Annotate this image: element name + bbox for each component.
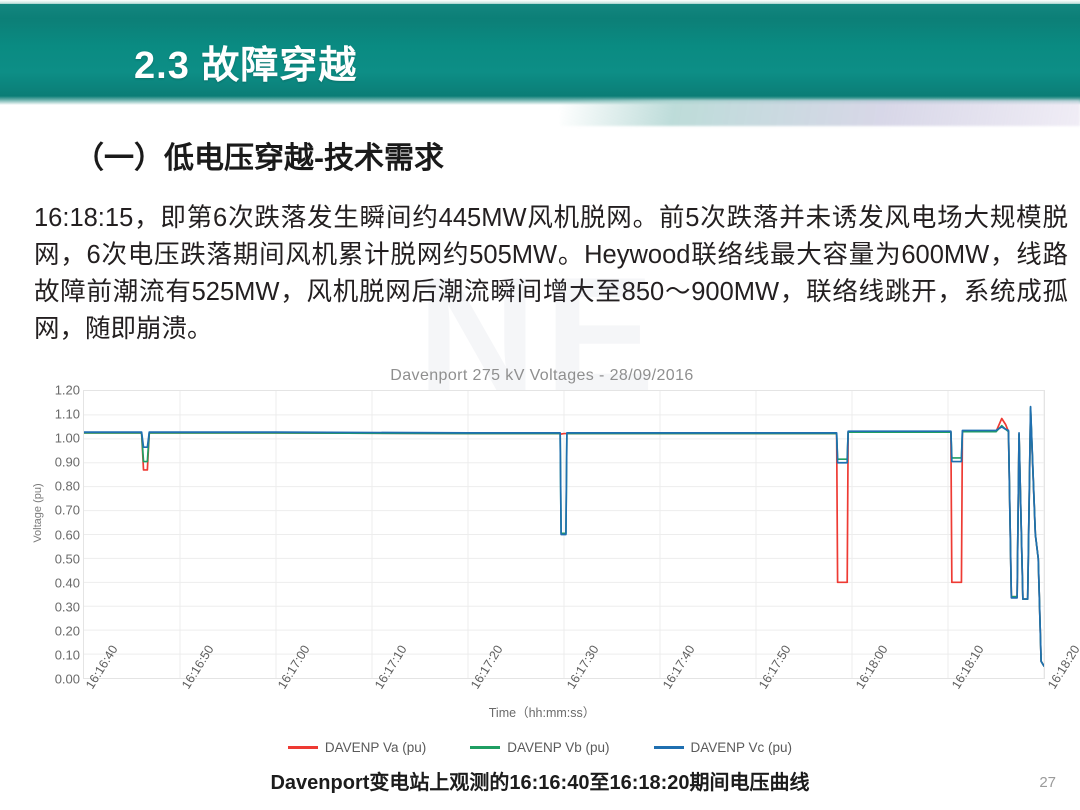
section-heading: （一）低电压穿越-技术需求 [74,133,444,177]
legend-item[interactable]: DAVENP Vc (pu) [654,740,793,755]
legend-color-swatch [654,746,684,749]
y-axis-title: Voltage (pu) [32,478,44,548]
page-number: 27 [1039,774,1056,791]
figure-caption: Davenport变电站上观测的16:16:40至16:18:20期间电压曲线 [0,766,1080,795]
plot-area [83,390,1045,679]
legend-color-swatch [288,746,318,749]
y-axis-tick: 1.10 [36,407,80,422]
y-axis-tick: 0.10 [36,647,80,662]
legend-color-swatch [470,746,500,749]
slide-title: 2.3 故障穿越 [134,34,357,89]
legend-label: DAVENP Vb (pu) [507,740,609,755]
header-sheen-decoration [560,100,1080,126]
legend-label: DAVENP Vc (pu) [691,740,793,755]
y-axis-tick: 1.00 [36,431,80,446]
voltage-chart: Davenport 275 kV Voltages - 28/09/2016 1… [22,360,1062,760]
body-paragraph: 16:18:15，即第6次跌落发生瞬间约445MW风机脱网。前5次跌落并未诱发风… [34,200,1068,348]
slide-header: 2.3 故障穿越 [0,0,1080,103]
y-axis-tick: 1.20 [36,383,80,398]
x-axis-tick: 16:18:20 [1045,643,1080,692]
y-axis-tick: 0.30 [36,599,80,614]
legend-label: DAVENP Va (pu) [325,740,426,755]
y-axis-tick: 0.00 [36,672,80,687]
y-axis-tick: 0.90 [36,455,80,470]
chart-legend: DAVENP Va (pu)DAVENP Vb (pu)DAVENP Vc (p… [0,740,1080,755]
plot-svg [84,391,1044,678]
chart-title: Davenport 275 kV Voltages - 28/09/2016 [22,367,1062,385]
y-axis-tick: 0.20 [36,623,80,638]
y-axis-tick: 0.50 [36,551,80,566]
x-axis-title: Time（hh:mm:ss） [22,702,1062,721]
y-axis-tick: 0.40 [36,575,80,590]
legend-item[interactable]: DAVENP Va (pu) [288,740,426,755]
legend-item[interactable]: DAVENP Vb (pu) [470,740,609,755]
